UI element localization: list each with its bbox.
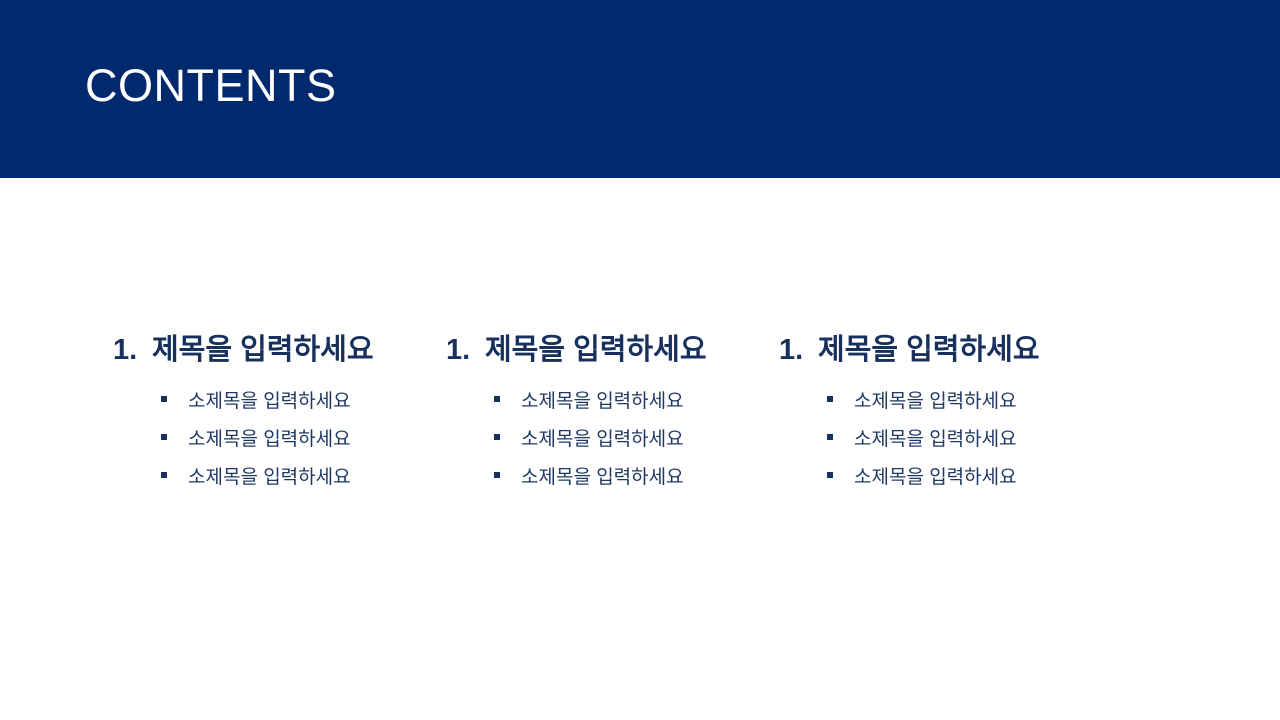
column-heading-2[interactable]: 1. 제목을 입력하세요: [446, 334, 779, 368]
slide-content-area: 1. 제목을 입력하세요 소제목을 입력하세요 소제목을 입력하세요 소제목을 …: [0, 178, 1280, 720]
square-bullet-icon: [494, 434, 500, 440]
column-title-1: 제목을 입력하세요: [152, 334, 374, 368]
column-number-2: 1.: [446, 334, 485, 368]
column-title-3: 제목을 입력하세요: [818, 334, 1040, 368]
list-item[interactable]: 소제목을 입력하세요: [779, 457, 1112, 495]
square-bullet-icon: [827, 434, 833, 440]
column-number-3: 1.: [779, 334, 818, 368]
list-item[interactable]: 소제목을 입력하세요: [446, 381, 779, 419]
list-item[interactable]: 소제목을 입력하세요: [779, 381, 1112, 419]
sub-item-label: 소제목을 입력하세요: [188, 386, 351, 413]
list-item[interactable]: 소제목을 입력하세요: [113, 457, 446, 495]
sub-item-label: 소제목을 입력하세요: [188, 424, 351, 451]
column-title-2: 제목을 입력하세요: [485, 334, 707, 368]
sub-list-1: 소제목을 입력하세요 소제목을 입력하세요 소제목을 입력하세요: [113, 381, 446, 495]
list-item[interactable]: 소제목을 입력하세요: [779, 419, 1112, 457]
square-bullet-icon: [161, 396, 167, 402]
list-item[interactable]: 소제목을 입력하세요: [446, 419, 779, 457]
slide-header-band: CONTENTS: [0, 0, 1280, 178]
contents-column-1[interactable]: 1. 제목을 입력하세요 소제목을 입력하세요 소제목을 입력하세요 소제목을 …: [113, 334, 446, 495]
list-item[interactable]: 소제목을 입력하세요: [113, 419, 446, 457]
list-item[interactable]: 소제목을 입력하세요: [113, 381, 446, 419]
sub-item-label: 소제목을 입력하세요: [854, 462, 1017, 489]
square-bullet-icon: [827, 472, 833, 478]
page-title: CONTENTS: [85, 63, 337, 108]
square-bullet-icon: [161, 434, 167, 440]
sub-item-label: 소제목을 입력하세요: [854, 424, 1017, 451]
contents-column-2[interactable]: 1. 제목을 입력하세요 소제목을 입력하세요 소제목을 입력하세요 소제목을 …: [446, 334, 779, 495]
square-bullet-icon: [494, 396, 500, 402]
sub-item-label: 소제목을 입력하세요: [521, 462, 684, 489]
sub-list-2: 소제목을 입력하세요 소제목을 입력하세요 소제목을 입력하세요: [446, 381, 779, 495]
column-heading-1[interactable]: 1. 제목을 입력하세요: [113, 334, 446, 368]
contents-column-3[interactable]: 1. 제목을 입력하세요 소제목을 입력하세요 소제목을 입력하세요 소제목을 …: [779, 334, 1112, 495]
square-bullet-icon: [494, 472, 500, 478]
sub-list-3: 소제목을 입력하세요 소제목을 입력하세요 소제목을 입력하세요: [779, 381, 1112, 495]
sub-item-label: 소제목을 입력하세요: [521, 386, 684, 413]
column-number-1: 1.: [113, 334, 152, 368]
square-bullet-icon: [827, 396, 833, 402]
sub-item-label: 소제목을 입력하세요: [188, 462, 351, 489]
sub-item-label: 소제목을 입력하세요: [854, 386, 1017, 413]
square-bullet-icon: [161, 472, 167, 478]
sub-item-label: 소제목을 입력하세요: [521, 424, 684, 451]
list-item[interactable]: 소제목을 입력하세요: [446, 457, 779, 495]
contents-columns: 1. 제목을 입력하세요 소제목을 입력하세요 소제목을 입력하세요 소제목을 …: [113, 334, 1173, 495]
column-heading-3[interactable]: 1. 제목을 입력하세요: [779, 334, 1112, 368]
